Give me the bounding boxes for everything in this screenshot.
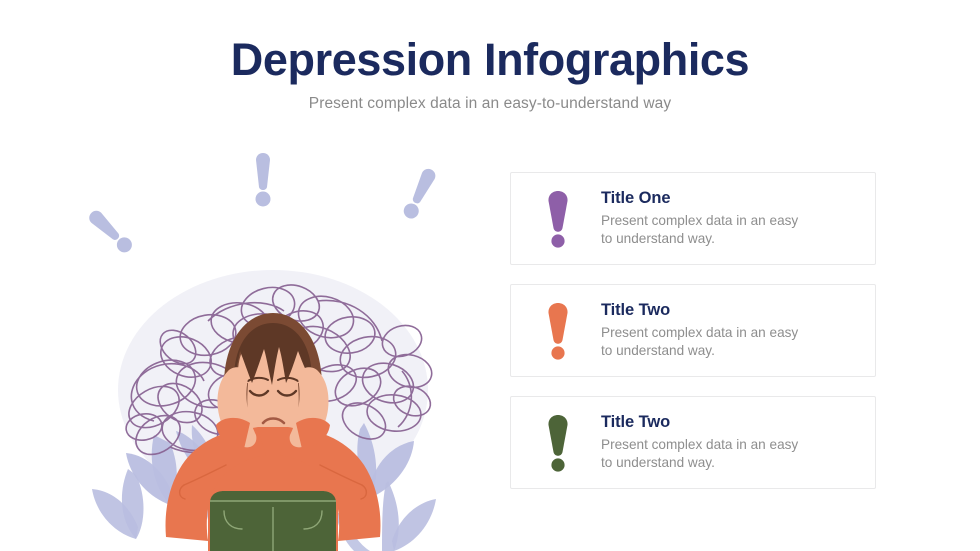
info-card-3-description-line1: Present complex data in an easy	[601, 437, 798, 452]
info-card-3-description: Present complex data in an easy to under…	[601, 436, 861, 472]
page-title: Depression Infographics	[0, 36, 980, 85]
info-card-2-title: Title Two	[601, 301, 861, 320]
info-card-2-text: Title Two Present complex data in an eas…	[601, 301, 861, 360]
info-card-2-description-line2: to understand way.	[601, 343, 715, 358]
info-card-2-description-line1: Present complex data in an easy	[601, 325, 798, 340]
info-card-1-description-line2: to understand way.	[601, 231, 715, 246]
slide-canvas: Depression Infographics Present complex …	[0, 0, 980, 551]
info-card-1[interactable]: Title One Present complex data in an eas…	[510, 172, 876, 265]
info-card-2[interactable]: Title Two Present complex data in an eas…	[510, 284, 876, 377]
page-subtitle: Present complex data in an easy-to-under…	[0, 95, 980, 113]
info-card-list: Title One Present complex data in an eas…	[510, 172, 876, 489]
info-card-1-description-line1: Present complex data in an easy	[601, 213, 798, 228]
exclamation-accent-right	[401, 166, 438, 221]
slide-header: Depression Infographics Present complex …	[0, 36, 980, 113]
info-card-1-description: Present complex data in an easy to under…	[601, 212, 861, 248]
info-card-3-text: Title Two Present complex data in an eas…	[601, 413, 861, 472]
exclamation-mark-icon	[543, 414, 573, 472]
exclamation-accent-top	[256, 153, 271, 207]
stressed-woman-illustration	[58, 135, 488, 551]
info-card-1-title: Title One	[601, 189, 861, 208]
info-card-3[interactable]: Title Two Present complex data in an eas…	[510, 396, 876, 489]
exclamation-mark-icon	[543, 302, 573, 360]
exclamation-accent-left	[86, 208, 135, 256]
info-card-3-title: Title Two	[601, 413, 861, 432]
info-card-1-text: Title One Present complex data in an eas…	[601, 189, 861, 248]
exclamation-mark-icon	[543, 190, 573, 248]
info-card-3-description-line2: to understand way.	[601, 455, 715, 470]
info-card-2-description: Present complex data in an easy to under…	[601, 324, 861, 360]
